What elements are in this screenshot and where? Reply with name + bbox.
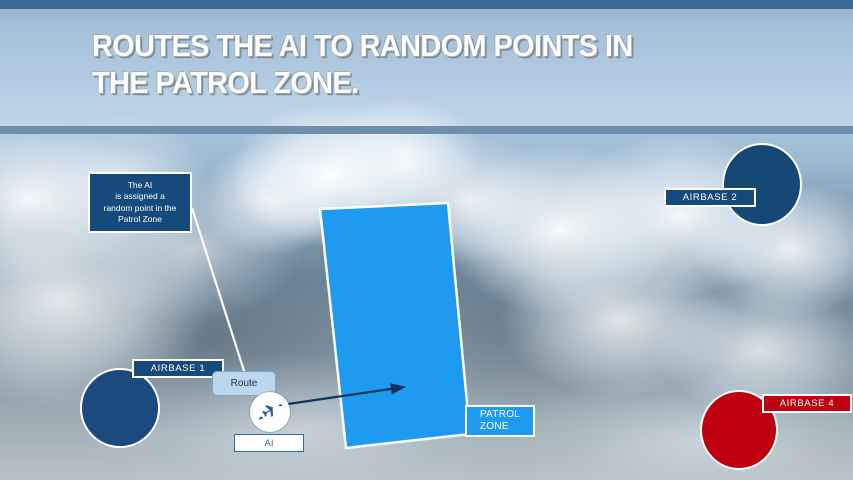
callout-box[interactable]: The AI is assigned a random point in the…	[88, 172, 192, 233]
patrol-zone-label[interactable]: PATROL ZONE	[465, 405, 535, 437]
ai-label[interactable]: AI	[234, 434, 304, 452]
fighter-jet-icon[interactable]	[250, 392, 290, 432]
airbase-1-label[interactable]: AIRBASE 1	[132, 359, 224, 378]
slide-canvas: ROUTES THE AI TO RANDOM POINTS IN THE PA…	[0, 0, 853, 480]
airbase-4-label[interactable]: AIRBASE 4	[762, 394, 852, 413]
header-bottom-bar	[0, 126, 853, 134]
airbase-1-marker[interactable]	[80, 368, 160, 448]
slide-title: ROUTES THE AI TO RANDOM POINTS IN THE PA…	[92, 27, 743, 101]
header-top-bar	[0, 0, 853, 9]
airbase-2-marker[interactable]	[722, 143, 802, 226]
airbase-2-label[interactable]: AIRBASE 2	[664, 188, 756, 207]
